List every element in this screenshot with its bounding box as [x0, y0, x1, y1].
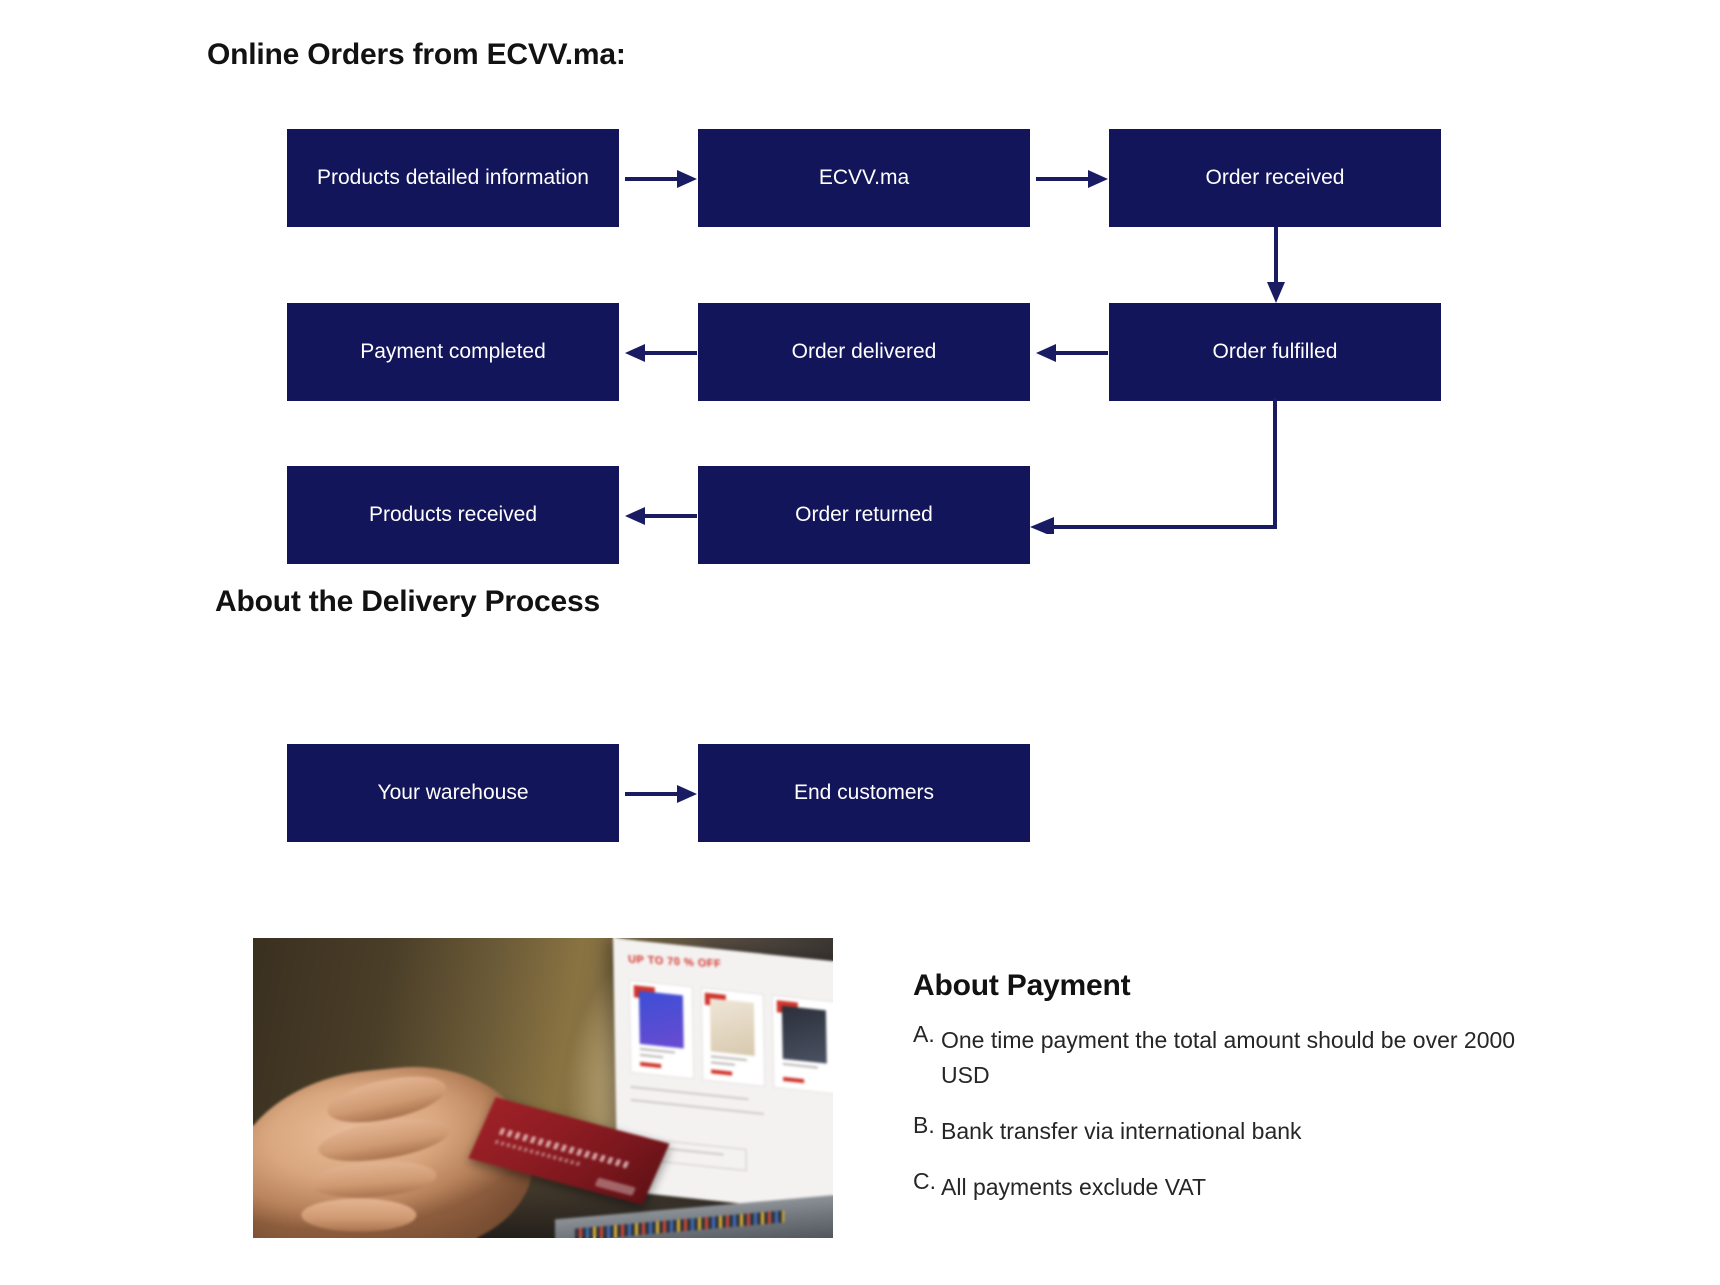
list-item-text: Bank transfer via international bank [941, 1114, 1553, 1149]
payment-terms-list: A. One time payment the total amount sho… [913, 1023, 1553, 1226]
flow-box-products-detailed-information[interactable]: Products detailed information [287, 129, 619, 227]
screen-product-thumbnail [710, 999, 755, 1056]
flow-box-end-customers[interactable]: End customers [698, 744, 1030, 842]
arrow-order-fulfilled-to-order-delivered [1036, 342, 1108, 364]
screen-product-card [629, 980, 694, 1080]
screen-product-price [640, 1062, 661, 1068]
screen-product-thumbnail [781, 1006, 826, 1063]
arrow-warehouse-to-end-customers [625, 783, 697, 805]
list-item: A. One time payment the total amount sho… [913, 1023, 1553, 1093]
laptop-keyboard [575, 1210, 784, 1238]
screen-body-line [631, 1099, 764, 1115]
screen-product-sub-line [639, 1054, 662, 1058]
flow-box-products-received[interactable]: Products received [287, 466, 619, 564]
flow-box-ecvv-ma[interactable]: ECVV.ma [698, 129, 1030, 227]
flow-box-order-received[interactable]: Order received [1109, 129, 1441, 227]
screen-product-card [700, 988, 765, 1088]
flow-box-order-returned[interactable]: Order returned [698, 466, 1030, 564]
screen-product-sub-line [711, 1061, 734, 1065]
list-item-marker: B. [913, 1114, 941, 1149]
arrow-order-received-to-order-fulfilled [1265, 227, 1287, 303]
arrow-order-fulfilled-to-order-returned [1030, 398, 1292, 534]
list-item-text: All payments exclude VAT [941, 1170, 1553, 1205]
list-item: B. Bank transfer via international bank [913, 1114, 1553, 1149]
arrow-ecvv-to-order-received [1036, 168, 1108, 190]
page-canvas: Online Orders from ECVV.ma: Products det… [0, 0, 1720, 1285]
screen-product-title-line [711, 1055, 747, 1061]
list-item-marker: C. [913, 1170, 941, 1205]
about-payment-title: About Payment [913, 969, 1130, 1003]
flow-box-order-fulfilled[interactable]: Order fulfilled [1109, 303, 1441, 401]
flow-box-your-warehouse[interactable]: Your warehouse [287, 744, 619, 842]
online-orders-title: Online Orders from ECVV.ma: [207, 38, 626, 72]
finger [309, 1158, 438, 1202]
delivery-process-title: About the Delivery Process [215, 585, 600, 619]
screen-product-title-line [782, 1063, 818, 1069]
screen-product-card [771, 995, 833, 1095]
screen-product-price [782, 1077, 803, 1083]
list-item-text: One time payment the total amount should… [941, 1023, 1553, 1093]
arrow-order-returned-to-products-received [625, 505, 697, 527]
screen-body-line [630, 1086, 747, 1100]
flow-box-payment-completed[interactable]: Payment completed [287, 303, 619, 401]
arrow-products-to-ecvv [625, 168, 697, 190]
flow-box-order-delivered[interactable]: Order delivered [698, 303, 1030, 401]
arrow-order-delivered-to-payment-completed [625, 342, 697, 364]
credit-card-logo [594, 1178, 636, 1196]
screen-product-price [711, 1070, 732, 1076]
screen-product-thumbnail [638, 991, 683, 1048]
screen-product-title-line [639, 1047, 675, 1053]
list-item: C. All payments exclude VAT [913, 1170, 1553, 1205]
finger [302, 1199, 417, 1232]
list-item-marker: A. [913, 1023, 941, 1093]
payment-photo: UP TO 70 % OFF [253, 938, 833, 1238]
